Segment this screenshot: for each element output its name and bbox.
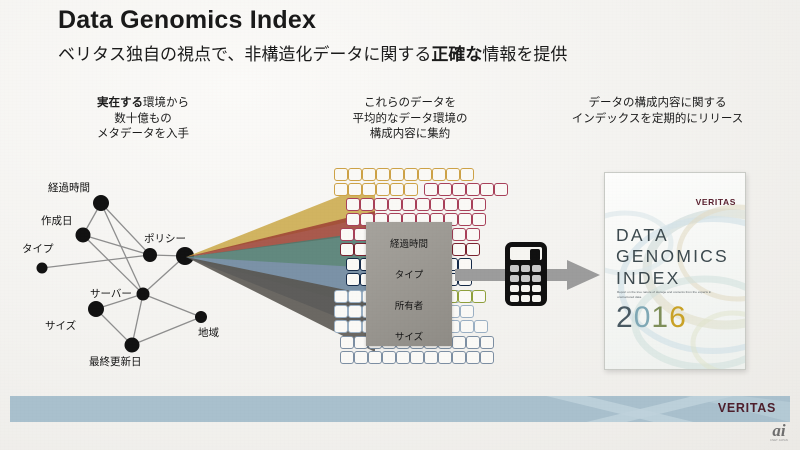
site-watermark: ai CNET JAPAN <box>764 422 794 446</box>
overlay-label-2: 所有者 <box>366 298 452 312</box>
graph-node-label-modified: 最終更新日 <box>89 354 142 369</box>
grid-square <box>396 351 410 364</box>
report-title-line: DATA <box>616 225 738 246</box>
grid-square <box>458 213 472 226</box>
grid-square <box>362 168 376 181</box>
overlay-label-1: タイプ <box>366 267 452 281</box>
grid-square <box>340 351 354 364</box>
attribute-overlay-box: 経過時間タイプ所有者サイズ <box>366 222 452 346</box>
grid-square <box>404 183 418 196</box>
grid-square <box>444 198 458 211</box>
grid-square <box>346 213 360 226</box>
grid-square <box>390 168 404 181</box>
grid-square <box>418 168 432 181</box>
column-heading-aggregate: これらのデータを平均的なデータ環境の構成内容に集約 <box>310 95 510 142</box>
report-title-line: GENOMICS <box>616 246 738 267</box>
grid-square <box>334 168 348 181</box>
grid-square <box>460 320 474 333</box>
grid-square <box>460 305 474 318</box>
calculator-button <box>521 265 530 272</box>
grid-square <box>402 198 416 211</box>
calculator-button <box>532 295 541 302</box>
watermark-subtitle: CNET JAPAN <box>764 439 794 442</box>
grid-square <box>390 183 404 196</box>
report-tagline: Report on the true nature of storage and… <box>617 290 725 299</box>
subtitle-pre: ベリタス独自の視点で、非構造化データに関する <box>58 45 431 65</box>
graph-node-type <box>37 263 48 274</box>
grid-square <box>472 198 486 211</box>
column-heading-line: 構成内容に集約 <box>310 126 510 142</box>
grid-square <box>438 351 452 364</box>
graph-node-modified <box>125 338 140 353</box>
grid-square <box>466 351 480 364</box>
grid-square <box>452 336 466 349</box>
overlay-label-3: サイズ <box>366 329 452 343</box>
grid-square <box>410 351 424 364</box>
graph-node-server <box>88 301 104 317</box>
subtitle-emphasis: 正確な <box>431 45 482 65</box>
grid-square <box>340 243 354 256</box>
report-year-digit: 1 <box>651 301 669 334</box>
graph-node-label-policy: ポリシー <box>144 231 186 246</box>
grid-square <box>374 198 388 211</box>
calculator-button <box>521 295 530 302</box>
column-heading-line: これらのデータを <box>310 95 510 111</box>
column-heading-collect: 実在する環境から数十億ものメタデータを入手 <box>48 95 238 142</box>
grid-square <box>424 351 438 364</box>
column-heading-release: データの構成内容に関するインデックスを定期的にリリース <box>545 95 770 126</box>
grid-square <box>446 168 460 181</box>
grid-square <box>334 183 348 196</box>
grid-square <box>432 168 446 181</box>
calculator-button <box>510 265 519 272</box>
column-heading-line: 平均的なデータ環境の <box>310 111 510 127</box>
grid-square <box>480 351 494 364</box>
grid-square <box>472 213 486 226</box>
grid-square <box>480 336 494 349</box>
grid-square <box>348 183 362 196</box>
grid-square <box>466 336 480 349</box>
report-cover[interactable]: VERITAS DATAGENOMICSINDEX Report on the … <box>604 172 746 370</box>
calculator-display <box>510 247 542 260</box>
graph-node-label-size: サイズ <box>45 318 76 333</box>
grid-square <box>376 183 390 196</box>
calculator-button <box>510 295 519 302</box>
graph-node-policy <box>143 248 157 262</box>
graph-node-label-created: 作成日 <box>41 213 73 228</box>
grid-square <box>404 168 418 181</box>
grid-square <box>348 320 362 333</box>
footer-bar: VERITAS <box>10 396 790 422</box>
grid-square <box>362 183 376 196</box>
overlay-label-0: 経過時間 <box>366 236 452 250</box>
grid-square <box>368 351 382 364</box>
grid-square <box>340 336 354 349</box>
grid-square <box>382 351 396 364</box>
report-title: DATAGENOMICSINDEX <box>616 225 738 289</box>
grid-square <box>354 351 368 364</box>
grid-square <box>348 290 362 303</box>
grid-square <box>376 168 390 181</box>
grid-square <box>360 198 374 211</box>
grid-square <box>424 183 438 196</box>
calculator-button <box>532 265 541 272</box>
graph-node-created <box>76 228 91 243</box>
report-year-digit: 2 <box>616 301 634 334</box>
report-year: 2016 <box>616 301 687 335</box>
grid-square <box>452 183 466 196</box>
graph-node-center <box>137 288 150 301</box>
graph-node-elapsed <box>93 195 109 211</box>
graph-node-label-elapsed: 経過時間 <box>48 180 90 195</box>
grid-square <box>346 198 360 211</box>
slide-canvas: Data Genomics Index ベリタス独自の視点で、非構造化データに関… <box>0 0 800 450</box>
footer-pattern <box>10 396 790 422</box>
heading-emphasis: 実在する <box>97 95 143 109</box>
grid-square <box>346 273 360 286</box>
graph-node-label-type: タイプ <box>22 241 54 256</box>
page-title: Data Genomics Index <box>58 6 316 35</box>
grid-square <box>334 290 348 303</box>
column-heading-line: インデックスを定期的にリリース <box>545 111 770 127</box>
grid-square <box>452 351 466 364</box>
grid-square <box>430 198 444 211</box>
grid-square <box>474 320 488 333</box>
page-subtitle: ベリタス独自の視点で、非構造化データに関する正確な情報を提供 <box>58 40 567 65</box>
calculator-button <box>532 275 541 282</box>
report-year-digit: 0 <box>634 301 652 334</box>
grid-square <box>346 258 360 271</box>
graph-node-label-server: サーバー <box>90 286 132 301</box>
grid-square <box>416 198 430 211</box>
calculator-button <box>510 275 519 282</box>
graph-edge <box>132 294 143 345</box>
subtitle-post: 情報を提供 <box>482 45 567 65</box>
report-year-digit: 6 <box>669 301 687 334</box>
grid-square <box>494 183 508 196</box>
graph-edge <box>101 203 143 294</box>
calculator-button <box>521 275 530 282</box>
grid-square <box>334 305 348 318</box>
grid-square <box>438 183 452 196</box>
watermark-mark: ai <box>764 422 794 439</box>
report-brand: VERITAS <box>696 197 736 207</box>
grid-square <box>334 320 348 333</box>
calculator-button <box>532 285 541 292</box>
column-heading-line: 実在する環境から <box>48 95 238 111</box>
report-title-line: INDEX <box>616 268 738 289</box>
grid-square <box>466 228 480 241</box>
calculator-button <box>510 285 519 292</box>
grid-square <box>480 183 494 196</box>
calculator-button <box>521 285 530 292</box>
grid-square <box>348 305 362 318</box>
column-heading-line: 数十億もの <box>48 111 238 127</box>
grid-square <box>388 198 402 211</box>
grid-square <box>348 168 362 181</box>
grid-square <box>340 228 354 241</box>
grid-square <box>466 183 480 196</box>
graph-edge <box>42 255 150 268</box>
column-heading-line: データの構成内容に関する <box>545 95 770 111</box>
grid-square <box>458 198 472 211</box>
footer-brand: VERITAS <box>718 401 776 415</box>
calculator-icon <box>505 242 547 306</box>
grid-square <box>452 228 466 241</box>
column-heading-line: メタデータを入手 <box>48 126 238 142</box>
grid-square <box>460 168 474 181</box>
